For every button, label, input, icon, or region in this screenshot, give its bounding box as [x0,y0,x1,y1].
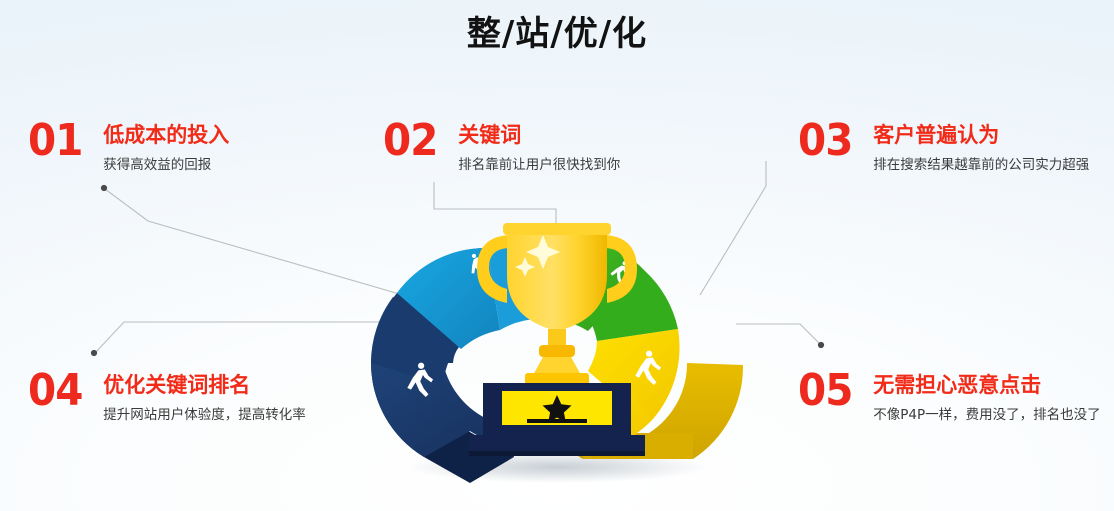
feature-heading-04: 优化关键词排名 [103,372,306,398]
feature-subtext-02: 排名靠前让用户很快找到你 [458,155,620,176]
feature-item-04: 04 优化关键词排名 提升网站用户体验度，提高转化率 [28,370,306,426]
feature-subtext-03: 排在搜索结果越靠前的公司实力超强 [873,155,1105,176]
feature-heading-03: 客户普遍认为 [873,122,1105,148]
feature-subtext-04: 提升网站用户体验度，提高转化率 [103,405,306,426]
feature-number-02: 02 [383,120,437,162]
connector-dot-05 [818,342,824,348]
feature-heading-05: 无需担心恶意点击 [873,372,1111,398]
feature-item-03: 03 客户普遍认为 排在搜索结果越靠前的公司实力超强 [798,120,1105,176]
feature-number-05: 05 [798,370,852,412]
feature-heading-02: 关键词 [458,122,620,148]
feature-number-04: 04 [28,370,82,412]
connector-dot-01 [101,185,107,191]
feature-number-03: 03 [798,120,852,162]
feature-number-01: 01 [28,120,82,162]
central-graphic [357,215,757,485]
feature-item-01: 01 低成本的投入 获得高效益的回报 [28,120,229,176]
connector-dot-04 [91,350,97,356]
feature-item-05: 05 无需担心恶意点击 不像P4P一样，费用没了，排名也没了 [798,370,1111,426]
feature-subtext-05: 不像P4P一样，费用没了，排名也没了 [873,405,1111,426]
feature-heading-01: 低成本的投入 [103,122,229,148]
feature-subtext-01: 获得高效益的回报 [103,155,229,176]
feature-item-02: 02 关键词 排名靠前让用户很快找到你 [383,120,620,176]
